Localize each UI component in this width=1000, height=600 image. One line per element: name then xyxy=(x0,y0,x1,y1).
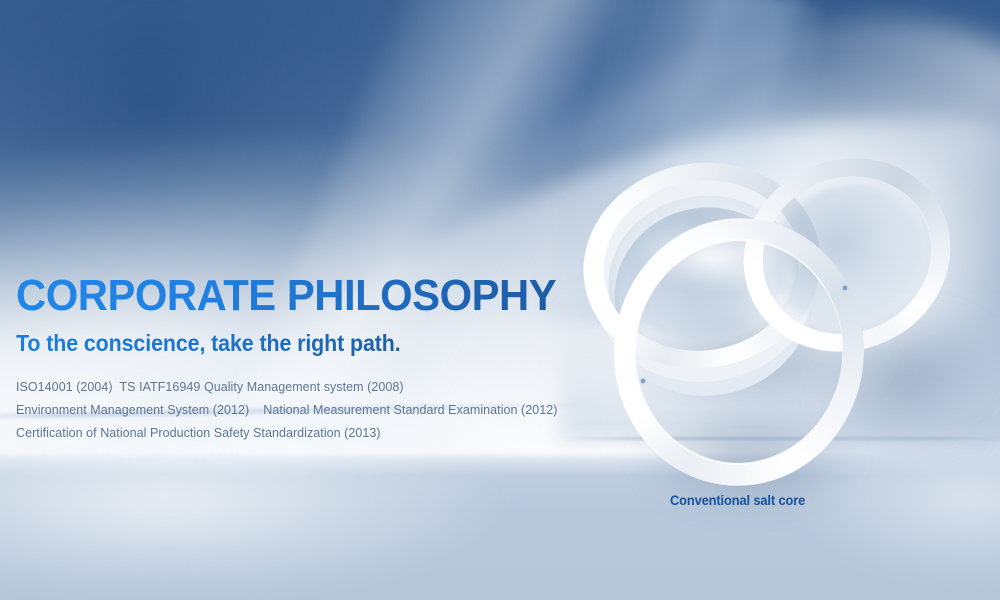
page-subtitle: To the conscience, take the right path. xyxy=(16,328,593,358)
ring-right-pinhole xyxy=(843,286,847,290)
ring-front-pinhole xyxy=(641,379,645,383)
page-title: CORPORATE PHILOSOPHY xyxy=(16,270,605,322)
ring-front xyxy=(603,208,875,497)
certification-line: Environment Management System (2012) Nat… xyxy=(16,399,636,422)
banner-text-block: CORPORATE PHILOSOPHY To the conscience, … xyxy=(16,270,636,445)
certification-line: ISO14001 (2004) TS IATF16949 Quality Man… xyxy=(16,376,636,399)
certification-line: Certification of National Production Saf… xyxy=(16,422,636,445)
certification-list: ISO14001 (2004) TS IATF16949 Quality Man… xyxy=(16,376,636,445)
corporate-philosophy-banner: CORPORATE PHILOSOPHY To the conscience, … xyxy=(0,0,1000,600)
product-caption: Conventional salt core xyxy=(670,492,805,508)
